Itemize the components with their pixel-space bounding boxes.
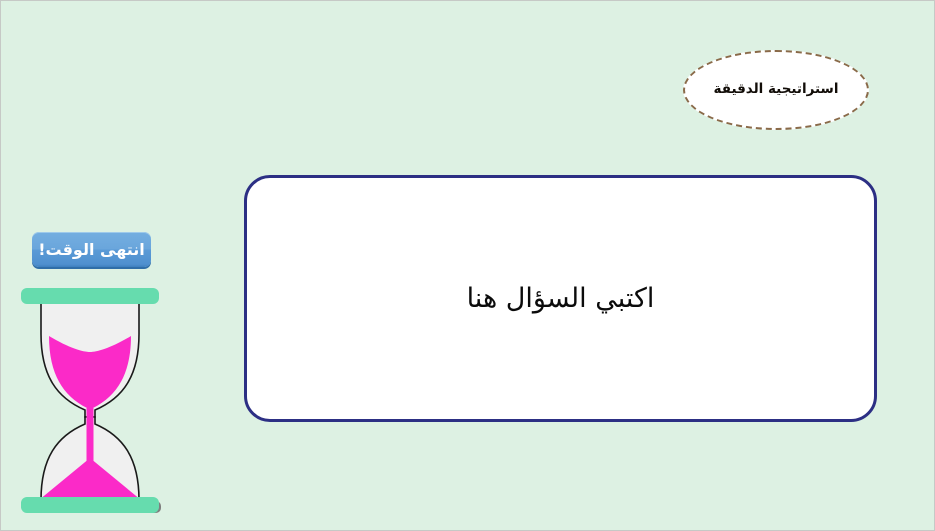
slide-canvas: استراتيجية الدقيقة اكتبي السؤال هنا انته…: [0, 0, 935, 531]
time-up-button-label: انتهى الوقت!: [38, 242, 145, 258]
hourglass-bottom-cap: [21, 497, 159, 513]
hourglass-graphic: [19, 286, 161, 516]
hourglass-icon: [19, 286, 161, 516]
hourglass-top-cap: [21, 288, 159, 304]
time-up-button[interactable]: انتهى الوقت!: [32, 232, 151, 267]
question-box[interactable]: اكتبي السؤال هنا: [244, 175, 877, 422]
strategy-badge[interactable]: استراتيجية الدقيقة: [683, 50, 869, 130]
strategy-badge-label: استراتيجية الدقيقة: [714, 83, 839, 97]
question-placeholder-text: اكتبي السؤال هنا: [467, 282, 655, 316]
hourglass-sand-stream: [87, 408, 94, 464]
